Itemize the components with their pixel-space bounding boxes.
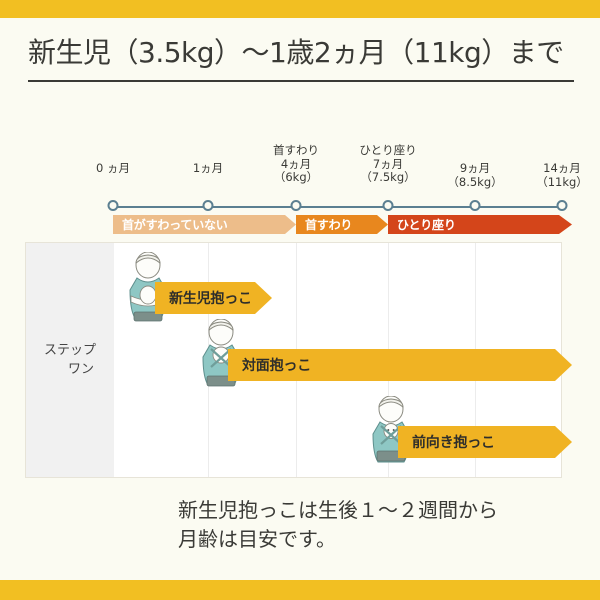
page-title: 新生児（3.5kg）〜1歳2ヵ月（11kg）まで: [28, 36, 574, 70]
carrier-bar-face-to-face-hold: 対面抱っこ: [228, 349, 572, 381]
tick-weight-4: （8.5kg）: [447, 176, 502, 190]
tick-dot-4: [470, 200, 481, 211]
title-block: 新生児（3.5kg）〜1歳2ヵ月（11kg）まで: [28, 36, 574, 82]
caption-line-1: 新生児抱っこは生後１〜２週間から: [178, 496, 578, 525]
bottom-accent-band: [0, 580, 600, 600]
phase-label-1: 首すわり: [296, 216, 352, 233]
tick-milestone-3: ひとり座り: [359, 144, 416, 158]
tick-dot-1: [203, 200, 214, 211]
carrier-bar-label-2: 前向き抱っこ: [398, 432, 495, 452]
tick-dot-0: [108, 200, 119, 211]
tick-weight-2: （6kg）: [273, 171, 319, 185]
phase-bar-neck-stable: 首すわり: [296, 215, 388, 234]
top-accent-band: [0, 0, 600, 18]
row-header-line2: ワン: [44, 360, 96, 380]
row-header-line1: ステップ: [44, 341, 96, 361]
carrier-bar-newborn-hold: 新生児抱っこ: [155, 282, 272, 314]
phase-bar-sitting-alone: ひとり座り: [388, 215, 572, 234]
tick-label-5: 14ヵ月 （11kg）: [536, 162, 588, 189]
phase-label-2: ひとり座り: [388, 216, 456, 233]
tick-month-5: 14ヵ月: [536, 162, 588, 176]
carrier-bar-forward-facing-hold: 前向き抱っこ: [398, 426, 572, 458]
carrier-bar-label-1: 対面抱っこ: [228, 355, 311, 375]
tick-dot-2: [291, 200, 302, 211]
tick-label-3: ひとり座り 7ヵ月 （7.5kg）: [359, 144, 416, 185]
tick-label-4: 9ヵ月 （8.5kg）: [447, 162, 502, 189]
tick-month-4: 9ヵ月: [447, 162, 502, 176]
row-header-step-one: ステップ ワン: [26, 243, 114, 477]
tick-label-1: 1ヵ月: [193, 162, 223, 176]
tick-month-1: 1ヵ月: [193, 162, 223, 176]
carrier-bar-label-0: 新生児抱っこ: [155, 288, 252, 308]
title-divider: [28, 80, 574, 82]
tick-label-2: 首すわり 4ヵ月 （6kg）: [273, 144, 319, 185]
tick-month-2: 4ヵ月: [273, 158, 319, 172]
timeline-axis: 0 ヵ月 1ヵ月 首すわり 4ヵ月 （6kg） ひとり座り 7ヵ月 （7.5kg…: [0, 130, 600, 240]
phase-bar-neck-not-stable: 首がすわっていない: [113, 215, 296, 234]
tick-label-0: 0 ヵ月: [96, 162, 130, 176]
tick-weight-5: （11kg）: [536, 176, 588, 190]
caption-line-2: 月齢は目安です。: [178, 525, 578, 554]
tick-month-3: 7ヵ月: [359, 158, 416, 172]
tick-milestone-2: 首すわり: [273, 144, 319, 158]
tick-dot-3: [383, 200, 394, 211]
tick-month-0: 0 ヵ月: [96, 162, 130, 176]
tick-dot-5: [557, 200, 568, 211]
phase-label-0: 首がすわっていない: [113, 216, 228, 233]
tick-weight-3: （7.5kg）: [359, 171, 416, 185]
footer-caption: 新生児抱っこは生後１〜２週間から 月齢は目安です。: [178, 496, 578, 554]
axis-line: [113, 206, 562, 208]
